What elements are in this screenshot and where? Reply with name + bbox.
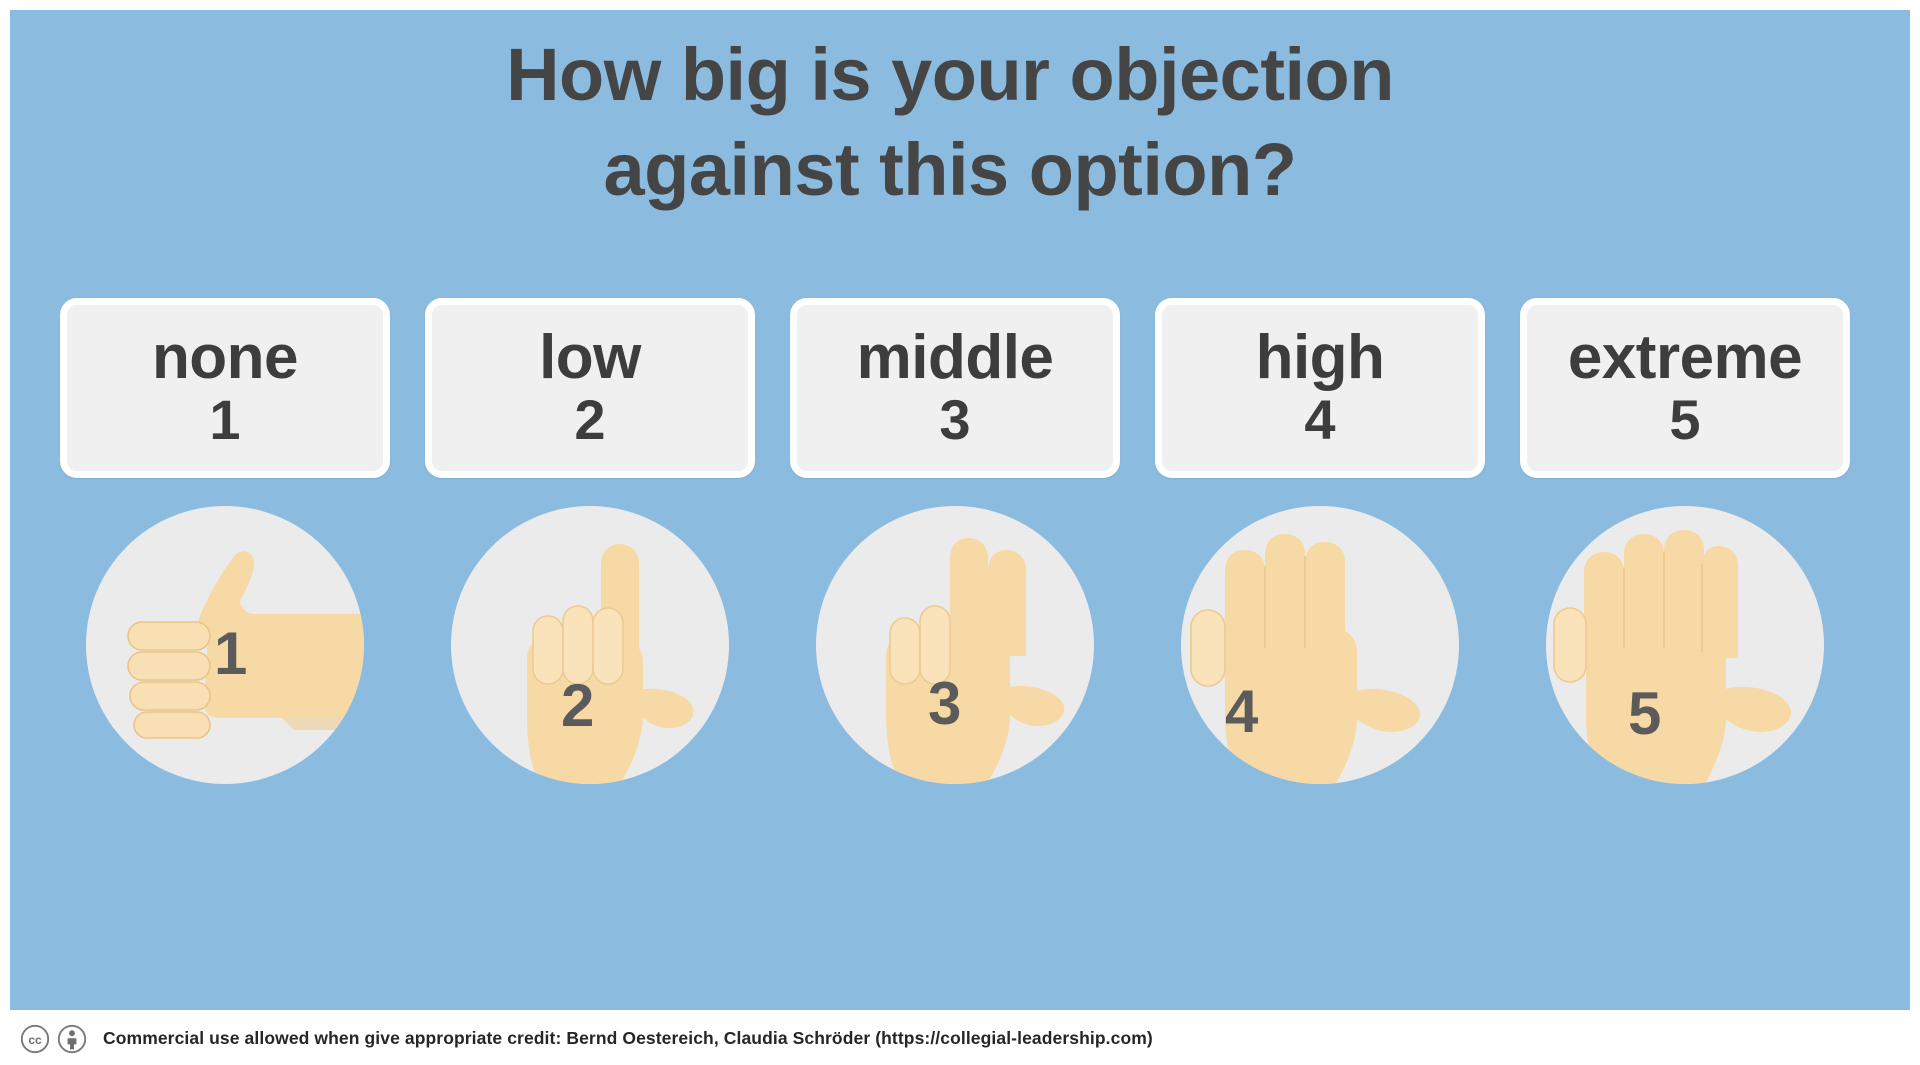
- scale-card-number: 5: [1669, 391, 1700, 450]
- slide-root: How big is your objection against this o…: [0, 0, 1920, 1065]
- cc-by-person-icon: [57, 1024, 87, 1054]
- scale-card-number: 1: [209, 391, 240, 450]
- hand-thumbs-up-icon: [86, 506, 364, 784]
- scale-card-middle[interactable]: middle 3: [790, 298, 1120, 478]
- cc-icon: cc: [20, 1024, 50, 1054]
- scale-card-label: middle: [857, 326, 1054, 389]
- hand-open-palm-icon: [1546, 506, 1824, 784]
- scale-card-row: none 1 low 2 middle 3 high 4 extreme 5: [60, 298, 1850, 478]
- scale-card-number: 2: [574, 391, 605, 450]
- hand-cell-3[interactable]: 3: [790, 500, 1120, 790]
- svg-text:cc: cc: [28, 1033, 42, 1047]
- hand-circle-5: 5: [1546, 506, 1824, 784]
- scale-card-number: 3: [939, 391, 970, 450]
- scale-card-label: extreme: [1568, 326, 1802, 389]
- hand-one-finger-icon: [451, 506, 729, 784]
- hand-circle-1: 1: [86, 506, 364, 784]
- hand-circle-4: 4: [1181, 506, 1459, 784]
- scale-card-none[interactable]: none 1: [60, 298, 390, 478]
- hand-cell-5[interactable]: 5: [1520, 500, 1850, 790]
- scale-card-label: high: [1256, 326, 1385, 389]
- hand-circle-2: 2: [451, 506, 729, 784]
- scale-card-low[interactable]: low 2: [425, 298, 755, 478]
- hand-sign-row: 1 2: [60, 500, 1850, 790]
- license-credit-text: Commercial use allowed when give appropr…: [103, 1028, 1153, 1049]
- hand-cell-2[interactable]: 2: [425, 500, 755, 790]
- hand-two-fingers-icon: [816, 506, 1094, 784]
- hand-four-fingers-icon: [1181, 506, 1459, 784]
- scale-card-extreme[interactable]: extreme 5: [1520, 298, 1850, 478]
- page-title: How big is your objection against this o…: [0, 28, 1900, 217]
- hand-cell-4[interactable]: 4: [1155, 500, 1485, 790]
- scale-card-label: none: [152, 326, 298, 389]
- hand-circle-3: 3: [816, 506, 1094, 784]
- cc-badge-group: cc: [20, 1024, 87, 1054]
- hand-cell-1[interactable]: 1: [60, 500, 390, 790]
- scale-card-high[interactable]: high 4: [1155, 298, 1485, 478]
- license-footer: cc Commercial use allowed when give appr…: [0, 1012, 1920, 1065]
- scale-card-label: low: [539, 326, 641, 389]
- scale-card-number: 4: [1304, 391, 1335, 450]
